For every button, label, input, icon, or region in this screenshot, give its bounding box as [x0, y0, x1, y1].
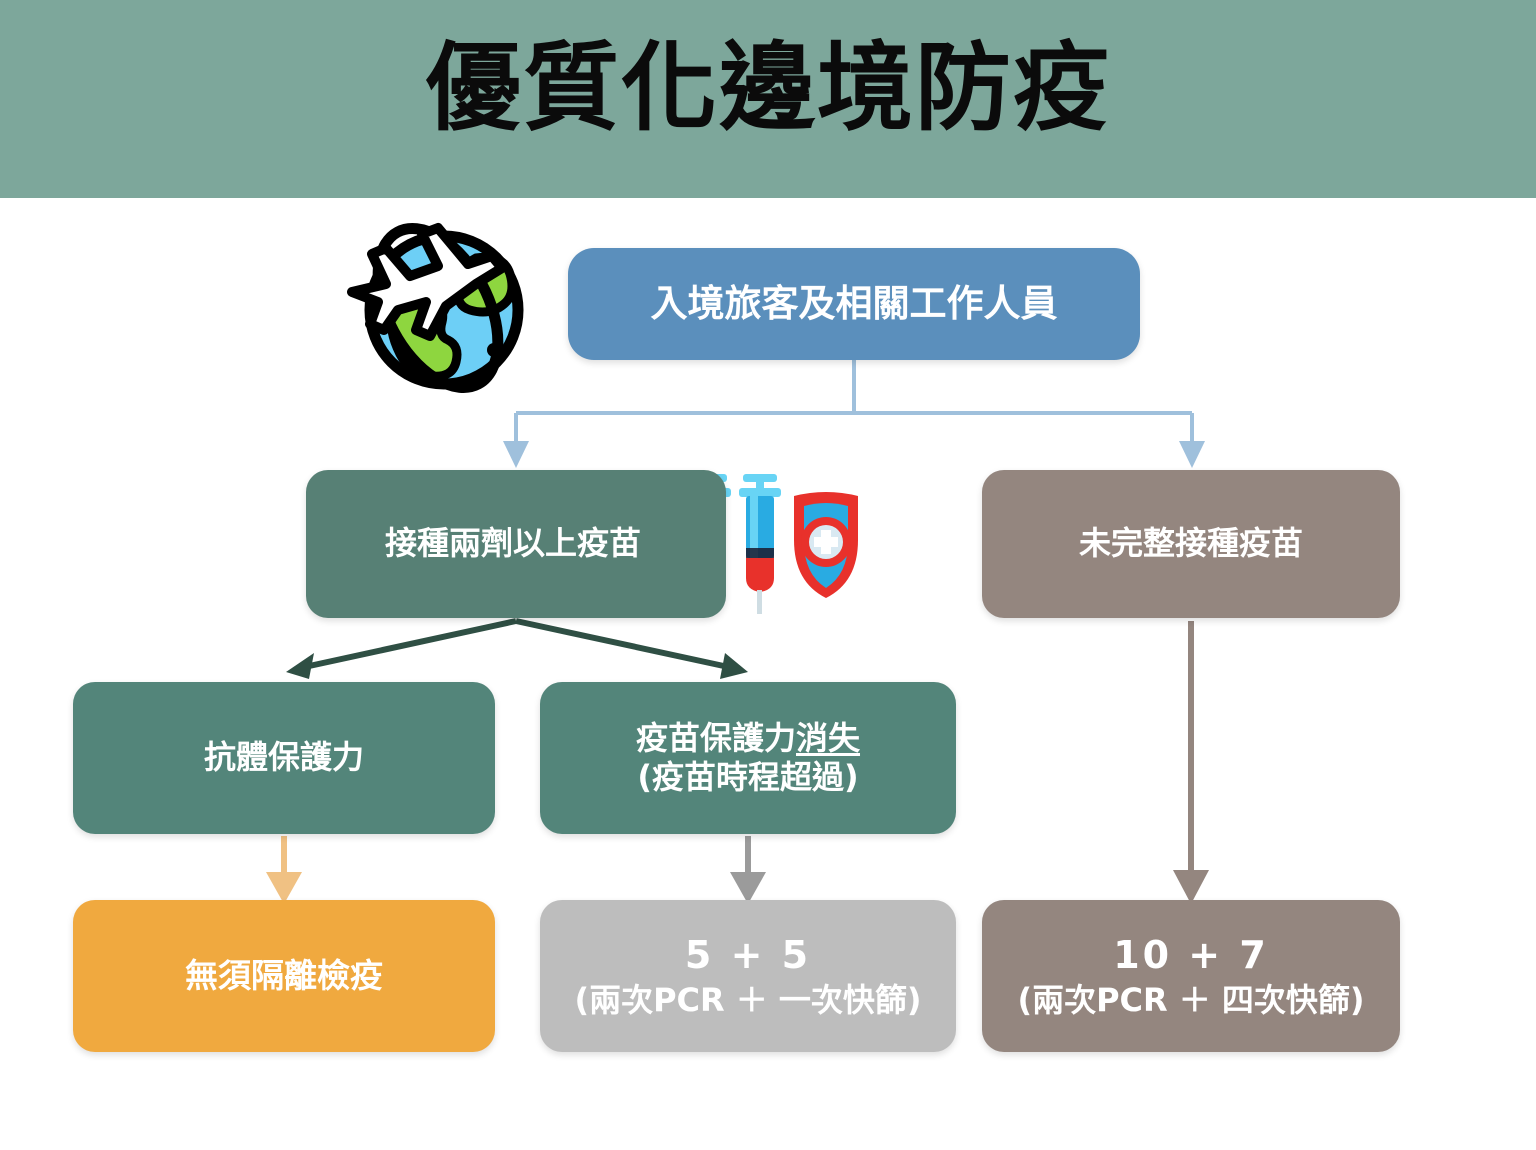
node-ten-plus-seven-sub: (兩次PCR ＋ 四次快篩)	[1017, 981, 1364, 1020]
node-waned[interactable]: 疫苗保護力消失 (疫苗時程超過)	[540, 682, 956, 834]
connector-waned-fiveplusfive	[730, 836, 766, 904]
node-antibody[interactable]: 抗體保護力	[73, 682, 495, 834]
node-five-plus-five[interactable]: 5 + 5 (兩次PCR ＋ 一次快篩)	[540, 900, 956, 1052]
node-ten-plus-seven-main: 10 + 7	[1017, 932, 1364, 978]
node-arrivals[interactable]: 入境旅客及相關工作人員	[568, 248, 1140, 360]
syringe-icon-2	[739, 474, 781, 614]
node-five-plus-five-sub: (兩次PCR ＋ 一次快篩)	[574, 981, 921, 1020]
page-title: 優質化邊境防疫	[0, 26, 1536, 151]
node-waned-line1-underlined: 消失	[796, 719, 860, 757]
node-waned-line1-plain: 疫苗保護力	[636, 719, 796, 757]
connector-incomplete-tenplusseven	[1173, 621, 1209, 904]
node-waned-line2: (疫苗時程超過)	[636, 758, 860, 797]
connector-arrivals-split	[503, 360, 1205, 468]
connector-antibody-noquarantine	[266, 836, 302, 904]
globe-airplane-icon	[326, 206, 556, 396]
connector-vaccinated-waned	[516, 621, 748, 679]
node-no-quarantine[interactable]: 無須隔離檢疫	[73, 900, 495, 1052]
node-vaccinated[interactable]: 接種兩劑以上疫苗	[306, 470, 726, 618]
shield-cross-icon	[794, 492, 858, 598]
connector-vaccinated-antibody	[286, 621, 516, 679]
node-ten-plus-seven[interactable]: 10 + 7 (兩次PCR ＋ 四次快篩)	[982, 900, 1400, 1052]
node-waned-line1: 疫苗保護力消失	[636, 719, 860, 758]
node-five-plus-five-main: 5 + 5	[574, 932, 921, 978]
diagram-canvas: 入境旅客及相關工作人員 接種兩劑以上疫苗 未完整接種疫苗 抗體保護力 疫苗保護力…	[0, 198, 1536, 1150]
node-incomplete[interactable]: 未完整接種疫苗	[982, 470, 1400, 618]
header-band: 優質化邊境防疫	[0, 0, 1536, 198]
